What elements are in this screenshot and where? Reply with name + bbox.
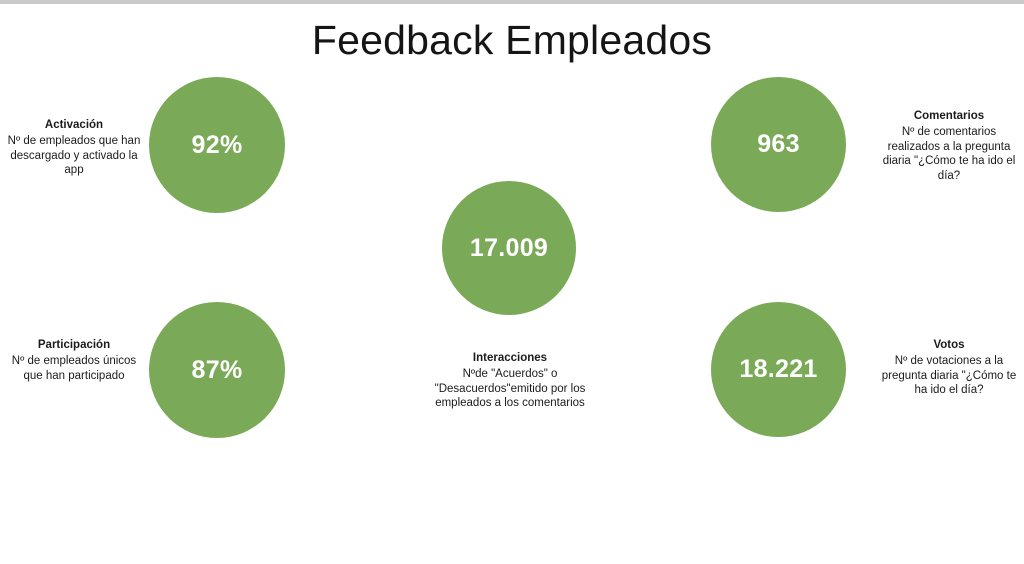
caption-desc-activacion: Nº de empleados que han descargado y act… bbox=[2, 134, 146, 178]
caption-title-interacciones: Interacciones bbox=[434, 351, 586, 366]
caption-title-participacion: Participación bbox=[2, 338, 146, 353]
caption-desc-comentarios: Nº de comentarios realizados a la pregun… bbox=[876, 125, 1022, 183]
caption-desc-votos: Nº de votaciones a la pregunta diaria "¿… bbox=[876, 354, 1022, 398]
caption-interacciones: Interacciones Nºde "Acuerdos" o "Desacue… bbox=[434, 351, 586, 411]
bubble-value-participacion: 87% bbox=[192, 358, 243, 383]
caption-comentarios: Comentarios Nº de comentarios realizados… bbox=[876, 109, 1022, 183]
top-edge-band bbox=[0, 0, 1024, 4]
page-title: Feedback Empleados bbox=[0, 14, 1024, 66]
caption-title-comentarios: Comentarios bbox=[876, 109, 1022, 124]
bubble-value-votos: 18.221 bbox=[739, 357, 817, 382]
bubble-interacciones[interactable]: 17.009 bbox=[442, 181, 576, 315]
slide-canvas: Feedback Empleados 92% Activación Nº de … bbox=[0, 0, 1024, 564]
caption-title-votos: Votos bbox=[876, 338, 1022, 353]
bubble-votos[interactable]: 18.221 bbox=[711, 302, 846, 437]
bubble-comentarios[interactable]: 963 bbox=[711, 77, 846, 212]
caption-desc-participacion: Nº de empleados únicos que han participa… bbox=[2, 354, 146, 383]
caption-desc-interacciones: Nºde "Acuerdos" o "Desacuerdos"emitido p… bbox=[434, 367, 586, 411]
caption-activacion: Activación Nº de empleados que han desca… bbox=[2, 118, 146, 178]
caption-participacion: Participación Nº de empleados únicos que… bbox=[2, 338, 146, 383]
caption-title-activacion: Activación bbox=[2, 118, 146, 133]
bubble-value-activacion: 92% bbox=[192, 133, 243, 158]
bubble-activacion[interactable]: 92% bbox=[149, 77, 285, 213]
bubble-participacion[interactable]: 87% bbox=[149, 302, 285, 438]
bubble-value-comentarios: 963 bbox=[757, 132, 800, 157]
caption-votos: Votos Nº de votaciones a la pregunta dia… bbox=[876, 338, 1022, 398]
bubble-value-interacciones: 17.009 bbox=[470, 236, 548, 261]
